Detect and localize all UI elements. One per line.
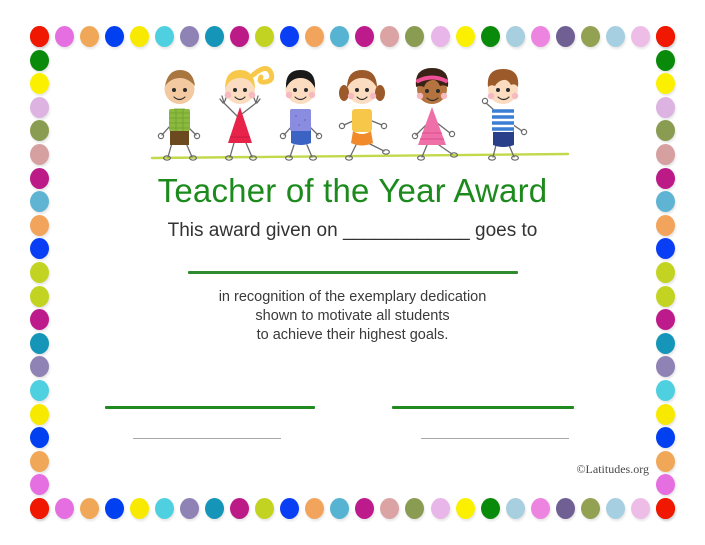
child-girl-pigtails [339, 70, 389, 160]
border-dot-bottom-5 [155, 498, 174, 519]
border-dot-right-5 [656, 144, 675, 165]
border-dot-bottom-7 [205, 498, 224, 519]
border-dot-left-0 [30, 26, 49, 47]
border-dot-top-4 [130, 26, 149, 47]
border-dots-right [656, 26, 675, 519]
border-dot-bottom-21 [556, 498, 575, 519]
border-dot-left-15 [30, 380, 49, 401]
border-dot-top-8 [230, 26, 249, 47]
child-girl-blonde-ponytail [220, 68, 272, 160]
copyright-notice: ©Latitudes.org [576, 462, 649, 477]
signature-subline-right[interactable] [421, 438, 569, 439]
border-dot-top-19 [506, 26, 525, 47]
border-dot-right-19 [656, 474, 675, 495]
certificate-title: Teacher of the Year Award [0, 172, 705, 210]
border-dot-bottom-9 [255, 498, 274, 519]
border-dot-bottom-2 [80, 498, 99, 519]
border-dot-right-18 [656, 451, 675, 472]
border-dot-left-10 [30, 262, 49, 283]
border-dot-left-3 [30, 97, 49, 118]
border-dot-left-2 [30, 73, 49, 94]
border-dot-bottom-11 [305, 498, 324, 519]
border-dot-left-1 [30, 50, 49, 71]
border-dot-bottom-4 [130, 498, 149, 519]
border-dot-right-1 [656, 50, 675, 71]
recognition-line-1: in recognition of the exemplary dedicati… [0, 288, 705, 307]
border-dot-top-23 [606, 26, 625, 47]
border-dot-bottom-23 [606, 498, 625, 519]
border-dot-top-13 [355, 26, 374, 47]
border-dot-top-18 [481, 26, 500, 47]
border-dot-bottom-22 [581, 498, 600, 519]
border-dot-left-14 [30, 356, 49, 377]
border-dot-right-2 [656, 73, 675, 94]
child-boy-green-shirt [158, 70, 199, 160]
border-dot-top-20 [531, 26, 550, 47]
border-dot-bottom-10 [280, 498, 299, 519]
border-dot-top-14 [380, 26, 399, 47]
border-dot-bottom-6 [180, 498, 199, 519]
child-boy-striped-shirt [482, 69, 526, 160]
border-dot-top-10 [280, 26, 299, 47]
border-dot-right-20 [656, 498, 675, 519]
border-dot-right-15 [656, 380, 675, 401]
recognition-line-3: to achieve their highest goals. [0, 326, 705, 345]
border-dot-bottom-20 [531, 498, 550, 519]
border-dot-bottom-12 [330, 498, 349, 519]
border-dot-top-21 [556, 26, 575, 47]
border-dot-right-16 [656, 404, 675, 425]
border-dot-top-7 [205, 26, 224, 47]
border-dot-right-4 [656, 120, 675, 141]
border-dots-left [30, 26, 49, 519]
child-girl-curly-headband [412, 68, 457, 160]
border-dot-bottom-3 [105, 498, 124, 519]
border-dot-left-4 [30, 120, 49, 141]
border-dot-bottom-1 [55, 498, 74, 519]
border-dot-bottom-15 [405, 498, 424, 519]
border-dot-bottom-16 [431, 498, 450, 519]
signature-line-right[interactable] [392, 406, 574, 409]
border-dot-right-14 [656, 356, 675, 377]
signature-line-left[interactable] [105, 406, 315, 409]
border-dot-top-15 [405, 26, 424, 47]
child-boy-black-hair [280, 70, 321, 160]
signature-subline-left[interactable] [133, 438, 281, 439]
border-dot-bottom-14 [380, 498, 399, 519]
border-dot-left-17 [30, 427, 49, 448]
border-dot-top-16 [431, 26, 450, 47]
recognition-line-2: shown to motivate all students [0, 307, 705, 326]
border-dot-top-9 [255, 26, 274, 47]
border-dot-top-3 [105, 26, 124, 47]
children-illustration: .ln { stroke:#6b6b6b; stroke-width:1.3; … [150, 55, 570, 167]
border-dots-bottom [30, 498, 675, 519]
border-dot-right-17 [656, 427, 675, 448]
border-dot-top-1 [55, 26, 74, 47]
border-dot-top-24 [631, 26, 650, 47]
border-dot-right-0 [656, 26, 675, 47]
border-dot-right-10 [656, 262, 675, 283]
border-dot-bottom-8 [230, 498, 249, 519]
recognition-text: in recognition of the exemplary dedicati… [0, 288, 705, 345]
border-dots-top [30, 26, 675, 47]
border-dot-top-11 [305, 26, 324, 47]
border-dot-top-17 [456, 26, 475, 47]
border-dot-top-5 [155, 26, 174, 47]
border-dot-left-20 [30, 498, 49, 519]
certificate-page: .ln { stroke:#6b6b6b; stroke-width:1.3; … [0, 0, 705, 545]
border-dot-bottom-17 [456, 498, 475, 519]
border-dot-bottom-24 [631, 498, 650, 519]
border-dot-left-19 [30, 474, 49, 495]
border-dot-bottom-13 [355, 498, 374, 519]
border-dot-top-6 [180, 26, 199, 47]
border-dot-bottom-18 [481, 498, 500, 519]
border-dot-top-12 [330, 26, 349, 47]
recipient-name-line[interactable] [188, 271, 518, 274]
border-dot-left-16 [30, 404, 49, 425]
border-dot-left-18 [30, 451, 49, 472]
border-dot-right-3 [656, 97, 675, 118]
award-given-line: This award given on ____________ goes to [0, 220, 705, 242]
border-dot-top-22 [581, 26, 600, 47]
border-dot-top-2 [80, 26, 99, 47]
border-dot-left-5 [30, 144, 49, 165]
border-dot-bottom-19 [506, 498, 525, 519]
